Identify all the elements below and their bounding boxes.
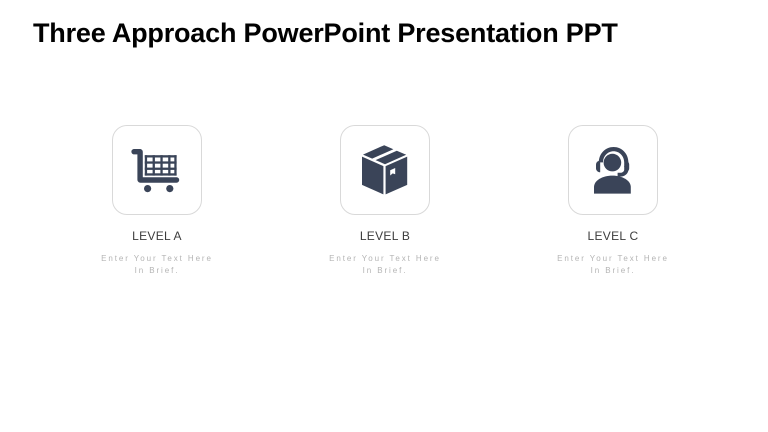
approach-cards-row: LEVEL A Enter Your Text Here In Brief. — [0, 125, 768, 295]
shopping-cart-icon — [131, 147, 183, 193]
headset-support-agent-icon — [589, 145, 637, 195]
icon-box-level-a[interactable] — [112, 125, 202, 215]
card-description-line-1: Enter Your Text Here — [271, 253, 499, 265]
card-description: Enter Your Text Here In Brief. — [271, 253, 499, 277]
card-label: LEVEL C — [499, 229, 727, 244]
approach-card-level-b[interactable]: LEVEL B Enter Your Text Here In Brief. — [271, 125, 499, 295]
card-description-line-2: In Brief. — [271, 265, 499, 277]
approach-card-level-a[interactable]: LEVEL A Enter Your Text Here In Brief. — [43, 125, 271, 295]
card-description: Enter Your Text Here In Brief. — [499, 253, 727, 277]
approach-card-level-c[interactable]: LEVEL C Enter Your Text Here In Brief. — [499, 125, 727, 295]
card-description-line-1: Enter Your Text Here — [499, 253, 727, 265]
package-box-icon — [360, 144, 410, 196]
icon-box-level-b[interactable] — [340, 125, 430, 215]
page-title: Three Approach PowerPoint Presentation P… — [33, 16, 743, 50]
card-label: LEVEL A — [43, 229, 271, 244]
card-label: LEVEL B — [271, 229, 499, 244]
card-description-line-1: Enter Your Text Here — [43, 253, 271, 265]
card-description-line-2: In Brief. — [499, 265, 727, 277]
card-description-line-2: In Brief. — [43, 265, 271, 277]
icon-box-level-c[interactable] — [568, 125, 658, 215]
card-description: Enter Your Text Here In Brief. — [43, 253, 271, 277]
slide-canvas: Three Approach PowerPoint Presentation P… — [0, 0, 768, 432]
